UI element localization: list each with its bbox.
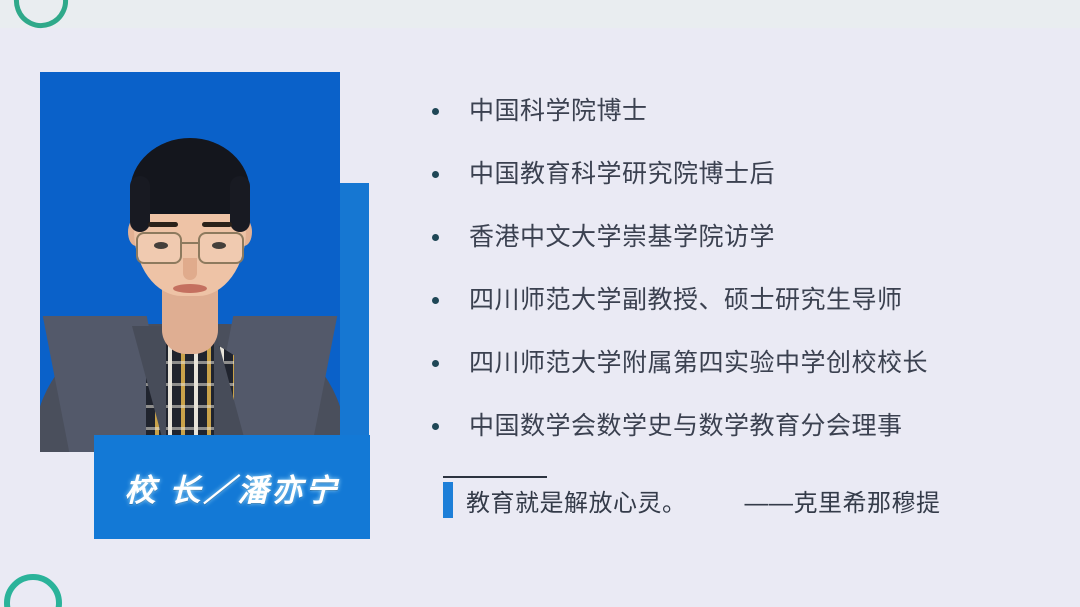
portrait-eyebrow-right xyxy=(202,222,232,227)
bullet-dot-icon xyxy=(432,234,439,241)
quote-body: 教育就是解放心灵。 ——克里希那穆提 xyxy=(443,482,941,518)
portrait-mouth xyxy=(173,284,207,293)
portrait-lens-right xyxy=(198,232,244,264)
slide-root: 校 长／潘亦宁 中国科学院博士 中国教育科学研究院博士后 香港中文大学崇基学院访… xyxy=(0,0,1080,607)
bullet-dot-icon xyxy=(432,360,439,367)
list-item: 四川师范大学附属第四实验中学创校校长 xyxy=(432,332,1032,395)
portrait-neck xyxy=(162,290,218,354)
list-item-label: 四川师范大学附属第四实验中学创校校长 xyxy=(469,348,928,379)
portrait-lapel-left xyxy=(132,326,166,452)
list-item: 中国科学院博士 xyxy=(432,80,1032,143)
portrait-nose xyxy=(183,258,197,280)
quote-text: 教育就是解放心灵。 xyxy=(466,483,687,518)
quote-rule xyxy=(443,476,547,478)
portrait-eyebrow-left xyxy=(148,222,178,227)
portrait-hair-side-left xyxy=(130,176,150,232)
portrait-lens-left xyxy=(136,232,182,264)
credentials-list: 中国科学院博士 中国教育科学研究院博士后 香港中文大学崇基学院访学 四川师范大学… xyxy=(432,80,1032,458)
list-item-label: 中国科学院博士 xyxy=(469,96,648,127)
portrait-glasses-bridge xyxy=(180,242,200,244)
list-item-label: 香港中文大学崇基学院访学 xyxy=(469,222,775,253)
nameplate: 校 长／潘亦宁 xyxy=(94,435,370,539)
list-item: 中国教育科学研究院博士后 xyxy=(432,143,1032,206)
list-item-label: 中国数学会数学史与数学教育分会理事 xyxy=(469,411,903,442)
portrait-illustration xyxy=(40,72,340,452)
bullet-dot-icon xyxy=(432,108,439,115)
list-item: 中国数学会数学史与数学教育分会理事 xyxy=(432,395,1032,458)
bullet-dot-icon xyxy=(432,423,439,430)
bullet-dot-icon xyxy=(432,171,439,178)
portrait-hair-side-right xyxy=(230,176,250,232)
bullet-dot-icon xyxy=(432,297,439,304)
list-item-label: 中国教育科学研究院博士后 xyxy=(469,159,775,190)
quote-accent-bar xyxy=(443,482,453,518)
list-item: 四川师范大学副教授、硕士研究生导师 xyxy=(432,269,1032,332)
nameplate-text: 校 长／潘亦宁 xyxy=(125,465,340,510)
list-item: 香港中文大学崇基学院访学 xyxy=(432,206,1032,269)
list-item-label: 四川师范大学副教授、硕士研究生导师 xyxy=(469,285,903,316)
quote-attribution: ——克里希那穆提 xyxy=(745,483,941,518)
portrait-lapel-right xyxy=(214,326,248,452)
portrait-photo xyxy=(40,72,340,452)
